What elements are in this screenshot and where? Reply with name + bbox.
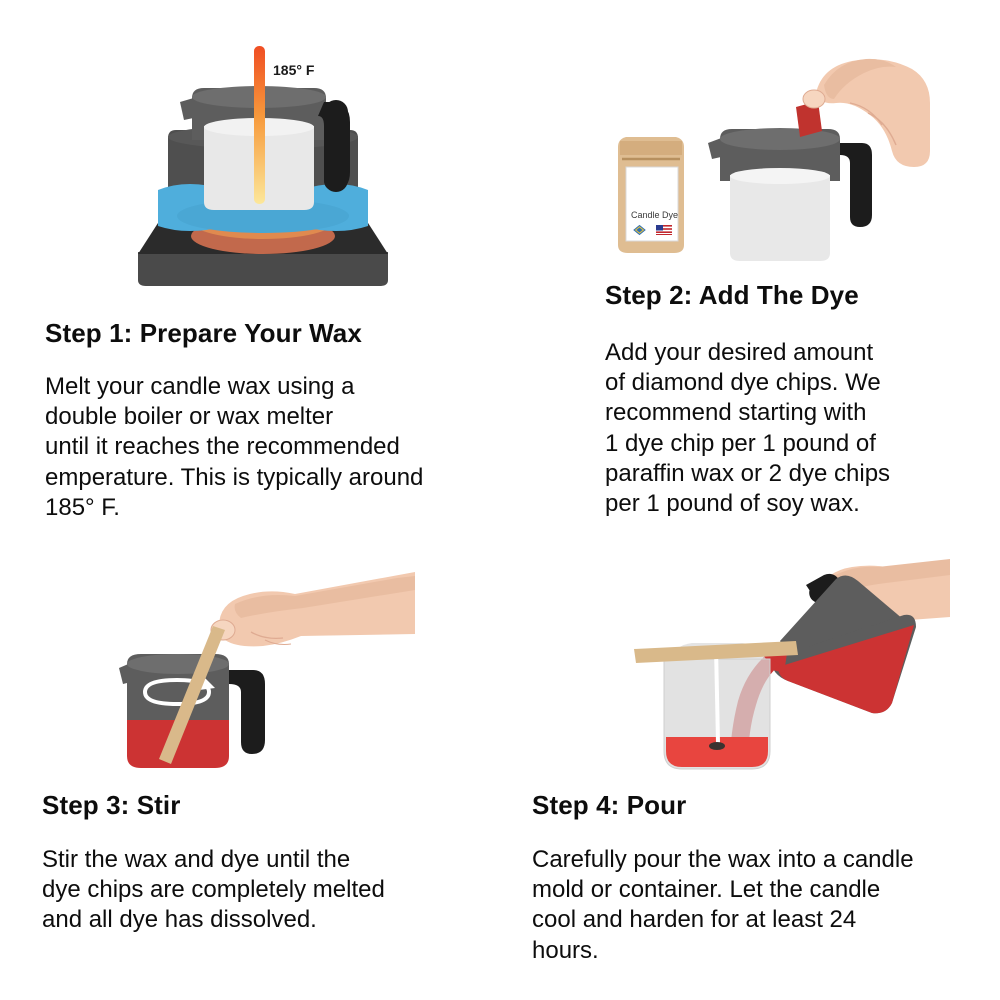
step-3-body: Stir the wax and dye until the dye chips…: [42, 845, 482, 936]
thumb-tip: [803, 90, 825, 108]
hand-illustration-3: [211, 572, 415, 646]
pour-illustration: [620, 555, 950, 795]
thermometer-probe: [254, 46, 265, 204]
wick-base: [709, 742, 725, 750]
pitcher-rim-2: [720, 128, 840, 150]
step-panel-4: Step 4: Pour Carefully pour the wax into…: [520, 540, 1000, 1000]
step-panel-3: Step 3: Stir Stir the wax and dye until …: [0, 540, 520, 1000]
pitcher-wax-surface-2: [730, 168, 830, 184]
double-boiler-illustration: 185° F: [118, 40, 408, 300]
pitcher-handle-bar: [324, 100, 348, 192]
infographic-root: 185° F Step 1: Prepare Your Wax Melt you…: [0, 0, 1000, 1000]
step-panel-2: Candle Dye Step 2: Add The Dye Add your …: [520, 0, 1000, 540]
step-1-title: Step 1: Prepare Your Wax: [45, 318, 362, 349]
pitcher-wax-2: [730, 175, 830, 261]
step-panel-1: 185° F Step 1: Prepare Your Wax Melt you…: [0, 0, 520, 540]
stove-base-shape: [138, 252, 388, 286]
step-4-title: Step 4: Pour: [532, 790, 686, 821]
diamond-logo-icon: [633, 225, 646, 235]
dye-bag-label-text: Candle Dye: [631, 210, 678, 220]
step-2-title: Step 2: Add The Dye: [605, 280, 859, 311]
step-2-body: Add your desired amount of diamond dye c…: [605, 338, 995, 519]
step-3-title: Step 3: Stir: [42, 790, 180, 821]
step-1-body: Melt your candle wax using a double boil…: [45, 372, 505, 523]
step-4-body: Carefully pour the wax into a candle mol…: [532, 845, 1000, 966]
add-dye-illustration: Candle Dye: [600, 55, 930, 285]
dye-bag-top-fold: [620, 141, 682, 155]
stir-illustration: [115, 560, 415, 780]
pitcher-handle-3: [229, 670, 265, 754]
pitcher-handle-2: [840, 143, 872, 227]
us-flag-icon: [656, 225, 672, 235]
temperature-label: 185° F: [273, 62, 314, 78]
